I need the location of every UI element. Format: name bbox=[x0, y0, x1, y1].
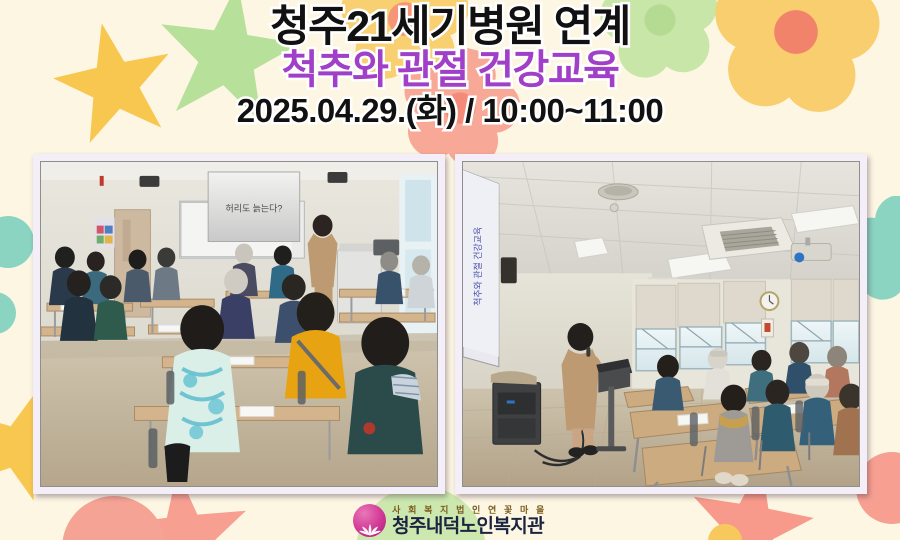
circle-teal-left-lower-shape bbox=[0, 292, 16, 334]
circle-teal-left-lower bbox=[0, 292, 16, 334]
poster-heading-block: 청주21세기병원 연계 척추와 관절 건강교육 2025.04.29.(화) /… bbox=[0, 0, 900, 130]
circle-teal-left-upper-shape bbox=[0, 216, 34, 268]
footer-organization-logo: 사 회 복 지 법 인 연 꽃 마 을 청주내덕노인복지관 bbox=[0, 504, 900, 537]
lotus-logo-icon bbox=[353, 504, 386, 537]
photo-left-screen-text: 허리도 늙는다? bbox=[226, 204, 283, 214]
photo-right-illustration: 척추와 관절 건강교육 bbox=[463, 162, 859, 486]
photo-right-frame: 척추와 관절 건강교육 bbox=[455, 154, 867, 494]
poster-canvas: 청주21세기병원 연계 척추와 관절 건강교육 2025.04.29.(화) /… bbox=[0, 0, 900, 540]
photo-left-frame: 허리도 늙는다? bbox=[33, 154, 445, 494]
title-date-time: 2025.04.29.(화) / 10:00~11:00 bbox=[0, 92, 900, 130]
photo-right-screen-text: 척추와 관절 건강교육 bbox=[472, 227, 483, 306]
logo-text-block: 사 회 복 지 법 인 연 꽃 마 을 청주내덕노인복지관 bbox=[392, 506, 547, 536]
photo-right: 척추와 관절 건강교육 bbox=[462, 161, 860, 487]
title-line-2: 척추와 관절 건강교육 bbox=[0, 48, 900, 92]
circle-teal-left-upper bbox=[0, 216, 34, 268]
title-line-1: 청주21세기병원 연계 bbox=[0, 4, 900, 50]
photo-left-illustration: 허리도 늙는다? bbox=[41, 162, 437, 486]
photo-left: 허리도 늙는다? bbox=[40, 161, 438, 487]
lotus-petals-icon bbox=[358, 523, 382, 536]
projection-screen-right: 척추와 관절 건강교육 bbox=[463, 170, 499, 367]
org-subtitle: 사 회 복 지 법 인 연 꽃 마 을 bbox=[392, 506, 547, 515]
org-name: 청주내덕노인복지관 bbox=[392, 517, 547, 536]
